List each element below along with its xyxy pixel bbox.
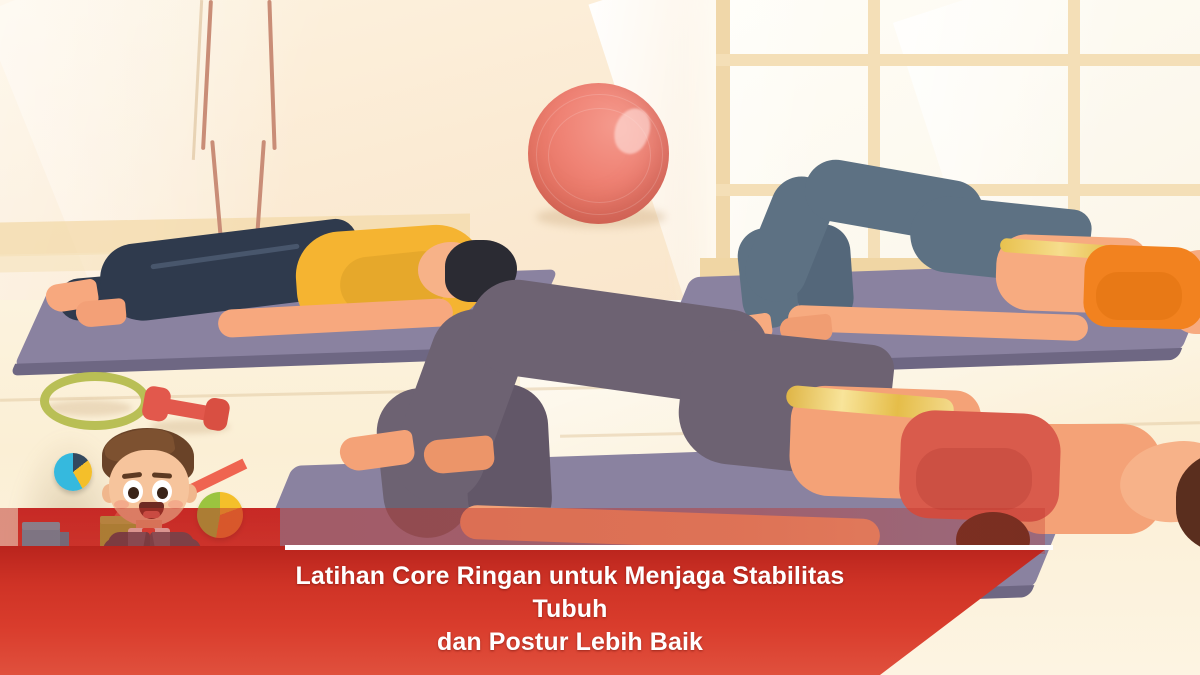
title-banner: Latihan Core Ringan untuk Menjaga Stabil… (0, 508, 1200, 675)
person-right-bra-shading (1096, 272, 1182, 320)
mascot-pupil-right (157, 487, 168, 499)
exercise-ball (528, 83, 669, 224)
mascot-eye-right (152, 480, 172, 503)
person-center-bra-shading (916, 448, 1032, 510)
window-mullion-horizontal-1 (716, 54, 1200, 66)
banner-title-line-1: Latihan Core Ringan untuk Menjaga Stabil… (296, 562, 845, 623)
banner-accent-line (285, 545, 1053, 550)
pie-chart-small-icon (54, 453, 92, 491)
banner-title-line-2: dan Postur Lebih Baik (290, 626, 850, 659)
person-left-foot-2 (75, 298, 127, 328)
banner-title-block: Latihan Core Ringan untuk Menjaga Stabil… (0, 560, 1020, 659)
mascot-eye-left (123, 480, 143, 503)
mascot-pupil-left (128, 487, 139, 499)
person-center-foot-2 (423, 435, 496, 475)
thumbnail-image: Latihan Core Ringan untuk Menjaga Stabil… (0, 0, 1200, 675)
